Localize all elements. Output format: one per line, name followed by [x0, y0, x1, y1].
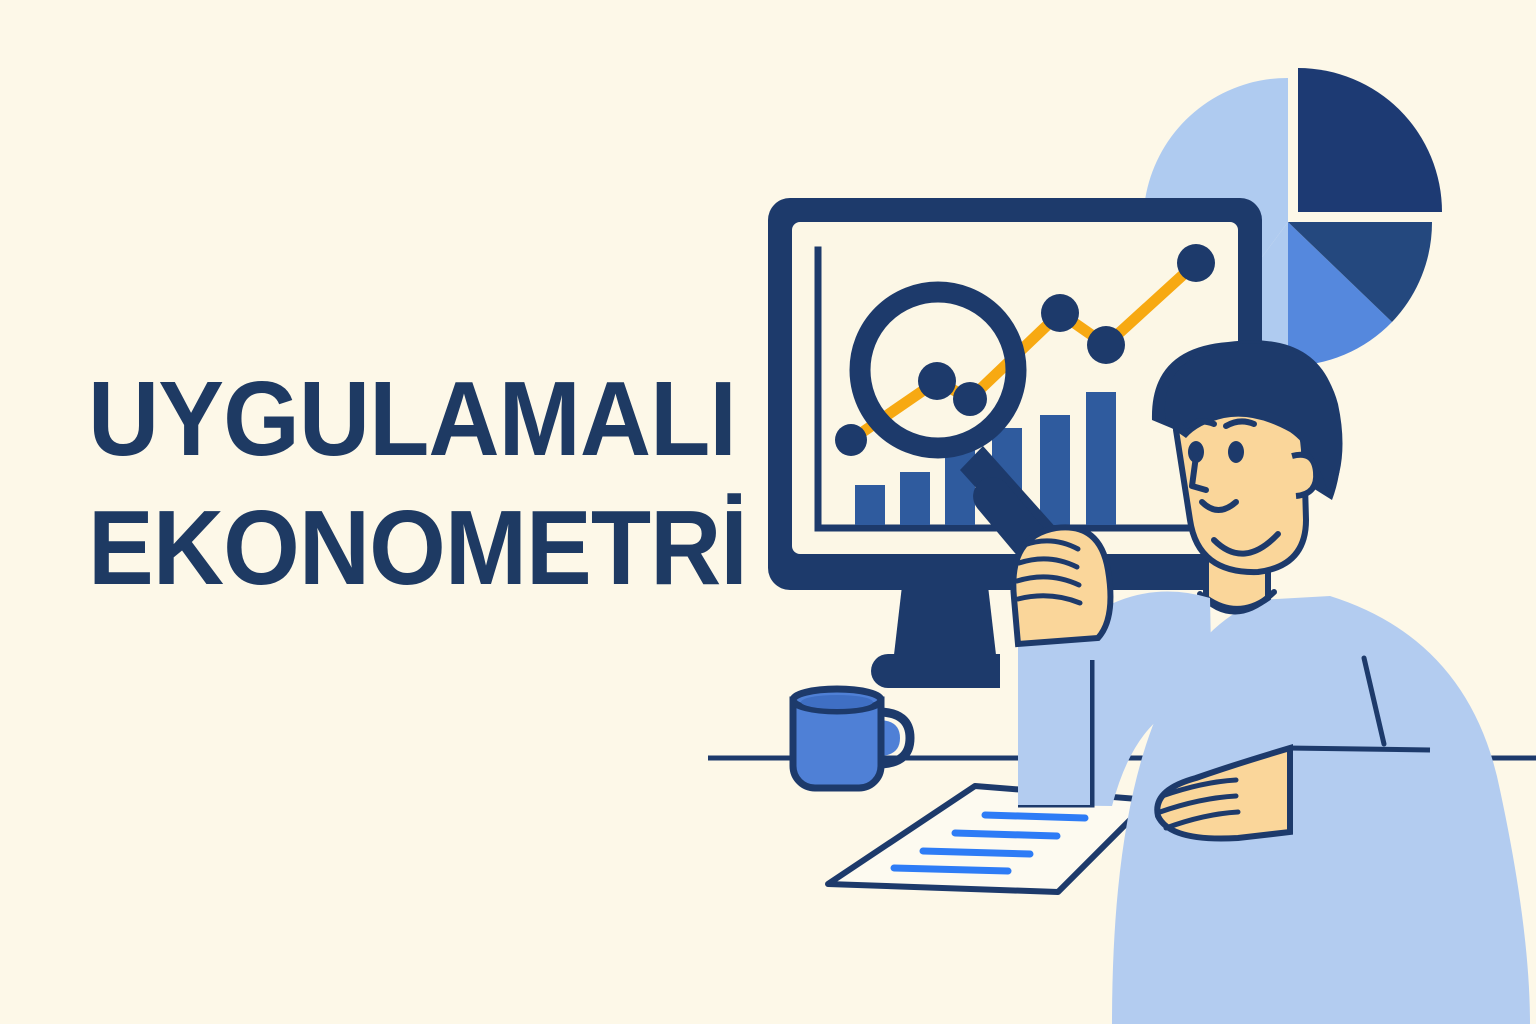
pie-slice-segment-a-exploded: [1298, 68, 1442, 212]
mug-coffee: [801, 695, 873, 709]
poster-canvas: UYGULAMALI EKONOMETRİ: [0, 0, 1536, 1024]
paper-line-2: [955, 833, 1057, 836]
line-point-4: [1041, 294, 1079, 332]
line-point-2: [918, 362, 956, 400]
paper-line-3: [923, 851, 1030, 854]
bar-1: [855, 485, 885, 525]
sleeve-right-edge: [1288, 748, 1430, 750]
bar-6: [1086, 392, 1116, 525]
ear: [1292, 455, 1316, 496]
paper-line-4: [894, 868, 1008, 871]
eye-right: [1228, 441, 1244, 463]
monitor-stand-base: [871, 654, 1000, 688]
line-point-3: [953, 382, 987, 416]
page-title: UYGULAMALI EKONOMETRİ: [88, 355, 748, 614]
line-point-5: [1087, 326, 1125, 364]
coffee-mug: [793, 689, 910, 788]
title-line-1: UYGULAMALI: [88, 355, 702, 484]
title-line-2: EKONOMETRİ: [88, 484, 702, 613]
bar-5: [1040, 415, 1070, 525]
line-point-6: [1177, 244, 1215, 282]
bar-2: [900, 472, 930, 525]
paper-line-1: [985, 815, 1085, 818]
line-point-1: [835, 424, 867, 456]
